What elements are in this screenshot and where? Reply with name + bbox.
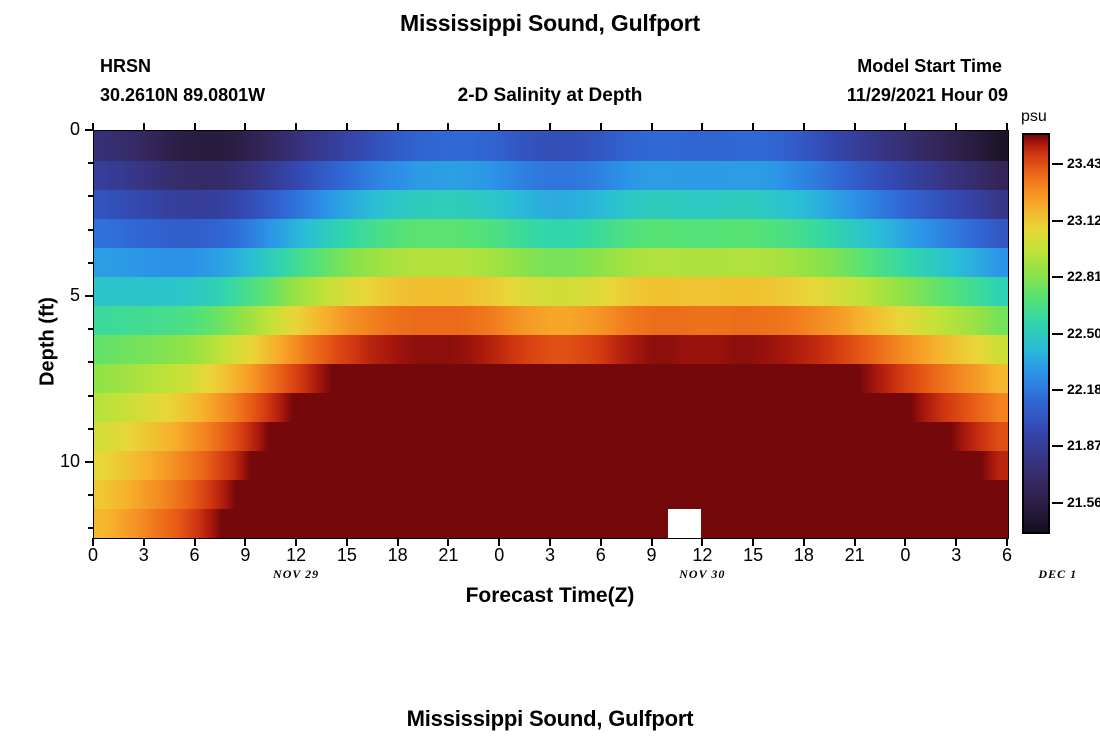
y-axis-tick-label: 5 [34, 285, 80, 306]
model-start-time-value: 11/29/2021 Hour 09 [847, 85, 1008, 106]
x-axis-tick-bottom [194, 538, 196, 546]
x-axis-tick-bottom [498, 538, 500, 546]
x-axis-tick-top [1006, 123, 1008, 131]
x-axis-tick-bottom [397, 538, 399, 546]
x-axis-tick-top [955, 123, 957, 131]
x-axis-tick-top [600, 123, 602, 131]
x-axis-tick-bottom [1006, 538, 1008, 546]
x-axis-date-label: NOV 29 [251, 567, 341, 582]
y-axis-minor-tick [88, 361, 94, 363]
colorbar-canvas [1024, 135, 1048, 532]
page-title: Mississippi Sound, Gulfport [0, 10, 1100, 37]
x-axis-tick-label: 21 [835, 545, 875, 566]
x-axis-tick-label: 3 [936, 545, 976, 566]
x-axis-tick-top [498, 123, 500, 131]
x-axis-tick-top [904, 123, 906, 131]
colorbar-tick-label: 23.125 [1067, 212, 1100, 228]
heatmap-canvas [94, 131, 1008, 538]
y-axis-minor-tick [88, 428, 94, 430]
y-axis-tick-label: 0 [34, 119, 80, 140]
x-axis-tick-top [549, 123, 551, 131]
x-axis-tick-bottom [549, 538, 551, 546]
x-axis-tick-label: 18 [784, 545, 824, 566]
y-axis-major-tick [85, 461, 94, 463]
x-axis-tick-label: 12 [682, 545, 722, 566]
y-axis-minor-tick [88, 229, 94, 231]
x-axis-tick-top [244, 123, 246, 131]
colorbar-tick-label: 22.812 [1067, 268, 1100, 284]
colorbar-tick-mark [1052, 502, 1063, 504]
colorbar-tick-mark [1052, 333, 1063, 335]
x-axis-tick-top [143, 123, 145, 131]
colorbar-tick-mark [1052, 220, 1063, 222]
x-axis-tick-bottom [854, 538, 856, 546]
x-axis-tick-bottom [92, 538, 94, 546]
x-axis-tick-bottom [803, 538, 805, 546]
colorbar-tick-mark [1052, 276, 1063, 278]
x-axis-tick-label: 9 [225, 545, 265, 566]
x-axis-tick-label: 6 [987, 545, 1027, 566]
x-axis-tick-label: 0 [885, 545, 925, 566]
x-axis-tick-top [752, 123, 754, 131]
x-axis-tick-label: 12 [276, 545, 316, 566]
x-axis-tick-label: 3 [124, 545, 164, 566]
y-axis-minor-tick [88, 328, 94, 330]
x-axis-tick-label: 0 [479, 545, 519, 566]
x-axis-tick-bottom [295, 538, 297, 546]
station-id-label: HRSN [100, 56, 151, 77]
y-axis-major-tick [85, 295, 94, 297]
x-axis-tick-top [397, 123, 399, 131]
x-axis-tick-bottom [904, 538, 906, 546]
colorbar-tick-label: 21.875 [1067, 437, 1100, 453]
salinity-heatmap-plot [93, 130, 1009, 539]
colorbar-tick-mark [1052, 445, 1063, 447]
x-axis-tick-top [651, 123, 653, 131]
x-axis-tick-label: 18 [378, 545, 418, 566]
x-axis-tick-top [194, 123, 196, 131]
colorbar-tick-label: 23.438 [1067, 155, 1100, 171]
y-axis-minor-tick [88, 162, 94, 164]
colorbar-tick-label: 21.562 [1067, 494, 1100, 510]
x-axis-tick-label: 21 [428, 545, 468, 566]
footer-title: Mississippi Sound, Gulfport [0, 706, 1100, 732]
x-axis-tick-label: 15 [733, 545, 773, 566]
x-axis-tick-bottom [447, 538, 449, 546]
x-axis-tick-label: 9 [632, 545, 672, 566]
x-axis-tick-top [854, 123, 856, 131]
x-axis-tick-bottom [346, 538, 348, 546]
x-axis-tick-label: 3 [530, 545, 570, 566]
x-axis-tick-label: 15 [327, 545, 367, 566]
x-axis-tick-bottom [244, 538, 246, 546]
x-axis-tick-bottom [143, 538, 145, 546]
y-axis-minor-tick [88, 195, 94, 197]
colorbar-unit-label: psu [1021, 108, 1047, 126]
x-axis-date-label: DEC 1 [1013, 567, 1100, 582]
y-axis-minor-tick [88, 395, 94, 397]
x-axis-tick-bottom [701, 538, 703, 546]
x-axis-title: Forecast Time(Z) [93, 584, 1007, 608]
x-axis-tick-top [295, 123, 297, 131]
x-axis-tick-top [92, 123, 94, 131]
x-axis-tick-top [447, 123, 449, 131]
model-start-time-label: Model Start Time [857, 56, 1002, 77]
y-axis-tick-label: 10 [34, 451, 80, 472]
x-axis-tick-top [701, 123, 703, 131]
x-axis-tick-top [803, 123, 805, 131]
x-axis-tick-label: 6 [581, 545, 621, 566]
x-axis-tick-bottom [600, 538, 602, 546]
x-axis-tick-label: 6 [175, 545, 215, 566]
x-axis-tick-top [346, 123, 348, 131]
y-axis-minor-tick [88, 527, 94, 529]
colorbar-tick-label: 22.500 [1067, 325, 1100, 341]
colorbar [1022, 133, 1050, 534]
x-axis-tick-bottom [752, 538, 754, 546]
x-axis-tick-bottom [955, 538, 957, 546]
y-axis-minor-tick [88, 262, 94, 264]
colorbar-tick-mark [1052, 389, 1063, 391]
colorbar-tick-mark [1052, 163, 1063, 165]
x-axis-date-label: NOV 30 [657, 567, 747, 582]
y-axis-minor-tick [88, 494, 94, 496]
x-axis-tick-bottom [651, 538, 653, 546]
colorbar-tick-label: 22.188 [1067, 381, 1100, 397]
x-axis-tick-label: 0 [73, 545, 113, 566]
